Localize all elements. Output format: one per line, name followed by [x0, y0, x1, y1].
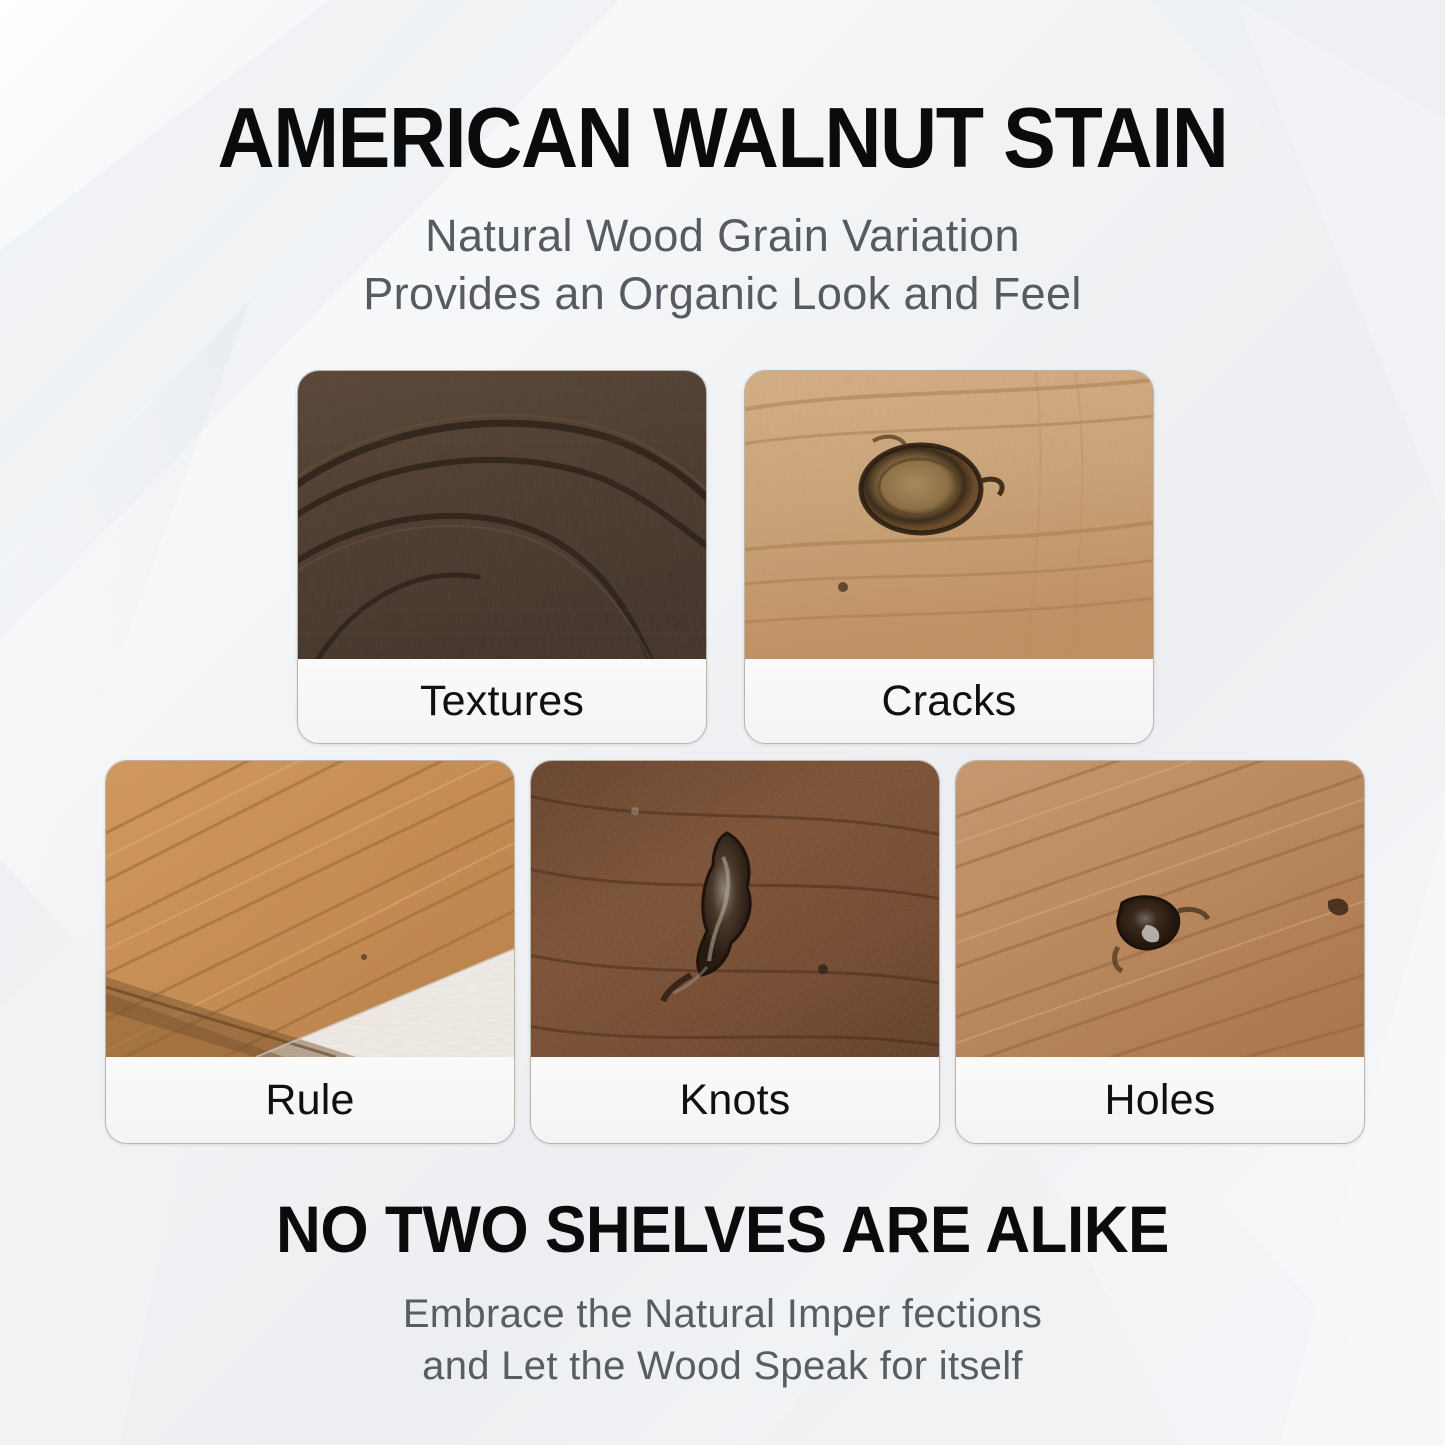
knots-caption: Knots	[531, 1057, 939, 1143]
textures-photo	[298, 371, 706, 659]
feature-card-row-bottom: Rule	[105, 760, 1365, 1144]
feature-card-knots[interactable]: Knots	[530, 760, 940, 1144]
header-block: AMERICAN WALNUT STAIN Natural Wood Grain…	[0, 96, 1445, 322]
footer-title: NO TWO SHELVES ARE ALIKE	[43, 1196, 1401, 1262]
feature-card-textures[interactable]: Textures	[297, 370, 707, 744]
footer-subtitle-line-2: and Let the Wood Speak for itself	[0, 1340, 1445, 1392]
page-subtitle-line-2: Provides an Organic Look and Feel	[0, 265, 1445, 323]
footer-subtitle-line-1: Embrace the Natural Imper fections	[0, 1288, 1445, 1340]
cracks-photo	[745, 371, 1153, 659]
footer-block: NO TWO SHELVES ARE ALIKE Embrace the Nat…	[0, 1196, 1445, 1392]
feature-card-rule[interactable]: Rule	[105, 760, 515, 1144]
holes-photo	[956, 761, 1364, 1057]
feature-card-holes[interactable]: Holes	[955, 760, 1365, 1144]
page-subtitle-line-1: Natural Wood Grain Variation	[0, 207, 1445, 265]
rule-photo	[106, 761, 514, 1057]
rule-caption: Rule	[106, 1057, 514, 1143]
holes-caption: Holes	[956, 1057, 1364, 1143]
feature-card-row-top: Textures	[297, 370, 1154, 744]
infographic-canvas: AMERICAN WALNUT STAIN Natural Wood Grain…	[0, 0, 1445, 1445]
feature-card-cracks[interactable]: Cracks	[744, 370, 1154, 744]
textures-caption: Textures	[298, 659, 706, 743]
knots-photo	[531, 761, 939, 1057]
page-subtitle: Natural Wood Grain Variation Provides an…	[0, 207, 1445, 322]
footer-subtitle: Embrace the Natural Imper fections and L…	[0, 1288, 1445, 1392]
page-title: AMERICAN WALNUT STAIN	[51, 96, 1395, 181]
cracks-caption: Cracks	[745, 659, 1153, 743]
